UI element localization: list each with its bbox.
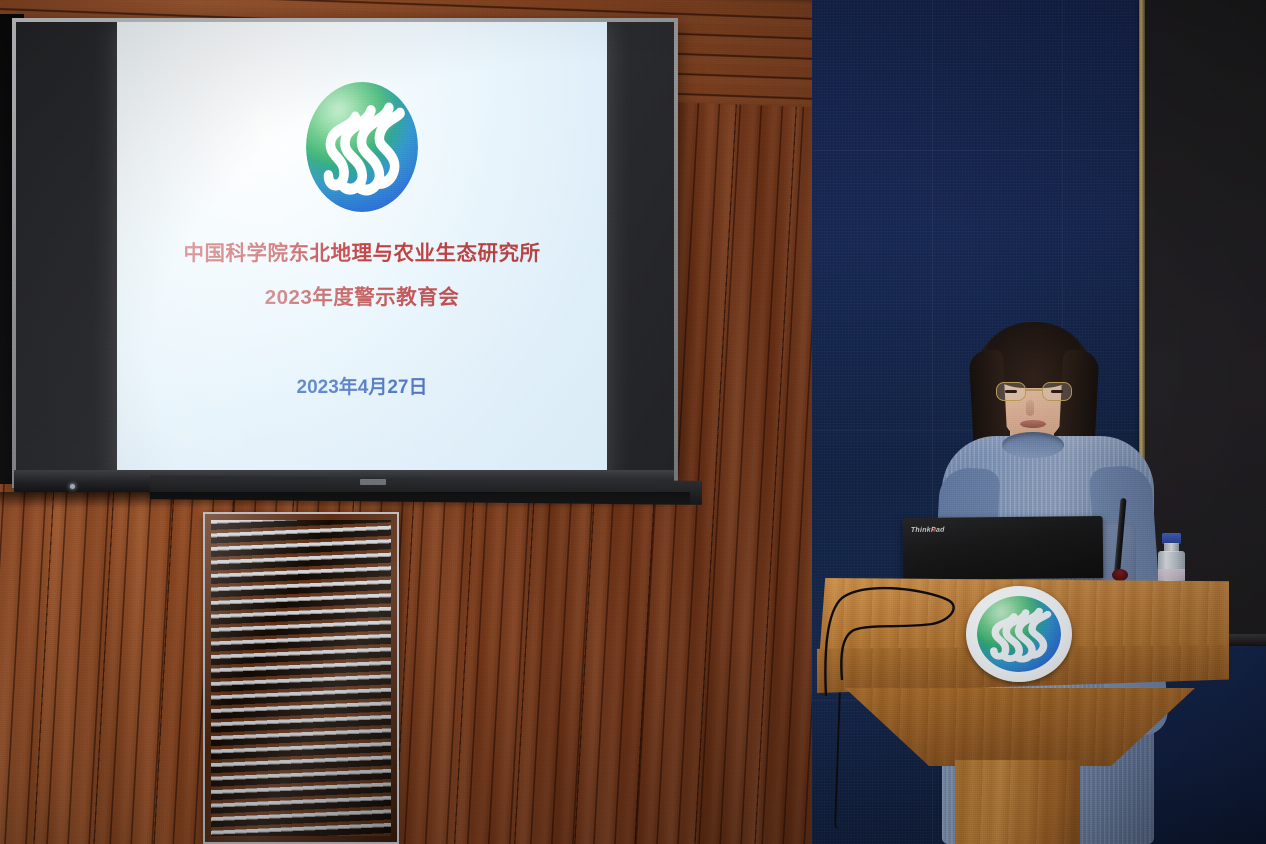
thinkpad-brand-label: ThinkPad xyxy=(911,527,945,534)
vent-reflection xyxy=(205,514,397,842)
slide-text-block: 中国科学院东北地理与农业生态研究所 2023年度警示教育会 2023年4月27日 xyxy=(117,236,607,399)
lectern-emblem xyxy=(966,586,1072,682)
display-brand-badge xyxy=(360,479,386,485)
glasses-bridge xyxy=(1026,389,1042,391)
institute-globe-logo-icon xyxy=(306,82,418,212)
logo-highlight xyxy=(977,596,1061,672)
presentation-display[interactable]: 中国科学院东北地理与农业生态研究所 2023年度警示教育会 2023年4月27日 xyxy=(12,18,678,488)
air-vent-grille xyxy=(203,512,399,844)
microphone-base xyxy=(1112,569,1128,581)
water-bottle[interactable] xyxy=(1156,533,1187,585)
display-power-led-icon xyxy=(70,484,75,489)
projected-slide: 中国科学院东北地理与农业生态研究所 2023年度警示教育会 2023年4月27日 xyxy=(117,22,607,484)
nose xyxy=(1026,400,1034,416)
display-panel: 中国科学院东北地理与农业生态研究所 2023年度警示教育会 2023年4月27日 xyxy=(16,22,674,484)
sweater-collar xyxy=(1002,432,1064,458)
display-drop-shadow xyxy=(0,492,690,508)
power-cable xyxy=(820,584,960,704)
eye-left xyxy=(1005,390,1017,393)
slide-date: 2023年4月27日 xyxy=(127,372,597,399)
institute-globe-logo-icon xyxy=(977,596,1061,672)
slide-title-line-2: 2023年度警示教育会 xyxy=(127,280,597,310)
wall-panel-seam xyxy=(812,150,1142,151)
bottle-label xyxy=(1158,569,1185,580)
mouth xyxy=(1020,420,1046,428)
lectern-column xyxy=(955,760,1080,844)
logo-highlight xyxy=(306,82,418,212)
conference-room-photo: 中国科学院东北地理与农业生态研究所 2023年度警示教育会 2023年4月27日 xyxy=(0,0,1266,844)
slide-title-line-1: 中国科学院东北地理与农业生态研究所 xyxy=(127,236,597,266)
eyeglasses xyxy=(994,382,1074,402)
eye-right xyxy=(1051,390,1063,393)
wood-grain xyxy=(955,760,1080,844)
thinkpad-laptop[interactable]: ThinkPad xyxy=(903,516,1104,580)
